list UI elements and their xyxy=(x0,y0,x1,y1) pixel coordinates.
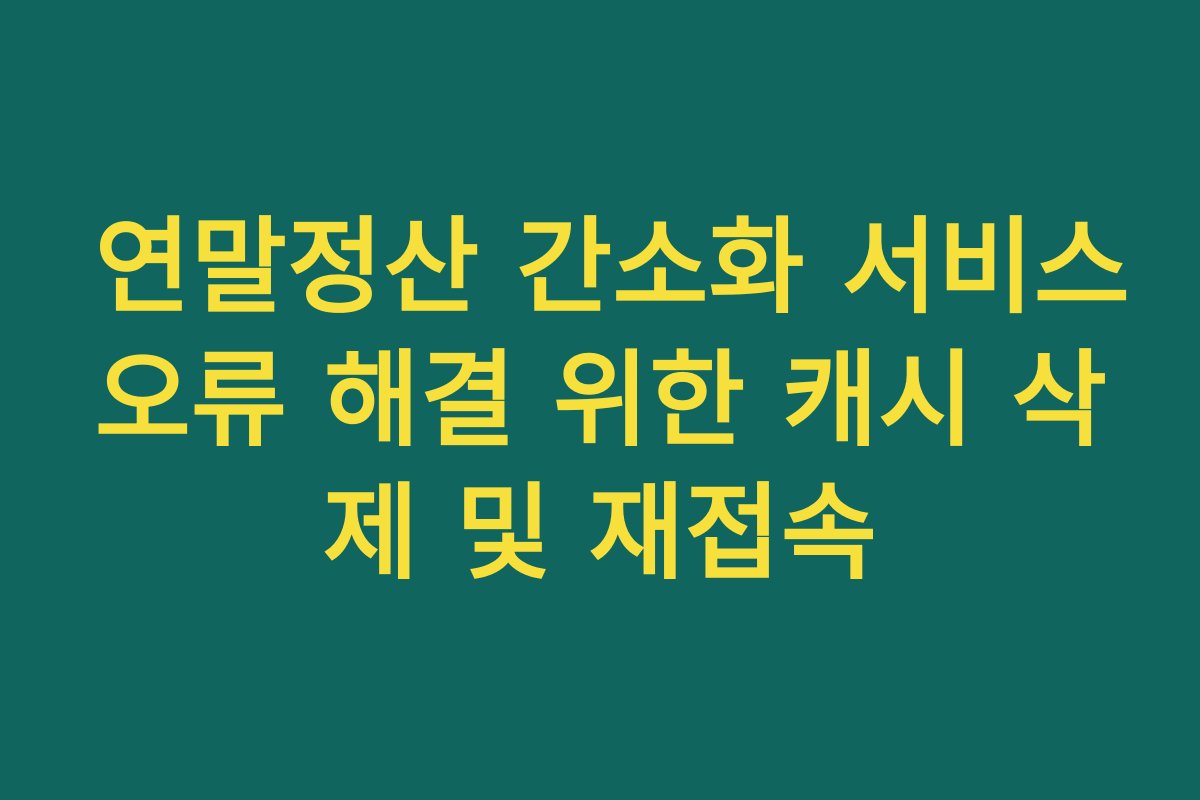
headline-line-2: 오류 해결 위한 캐시 삭 xyxy=(95,334,1105,467)
poster-canvas: 연말정산 간소화 서비스 오류 해결 위한 캐시 삭 제 및 재접속 xyxy=(0,0,1200,800)
headline-line-1: 연말정산 간소화 서비스 xyxy=(95,201,1105,334)
page-title: 연말정산 간소화 서비스 오류 해결 위한 캐시 삭 제 및 재접속 xyxy=(95,201,1105,600)
headline-line-3: 제 및 재접속 xyxy=(95,467,1105,600)
